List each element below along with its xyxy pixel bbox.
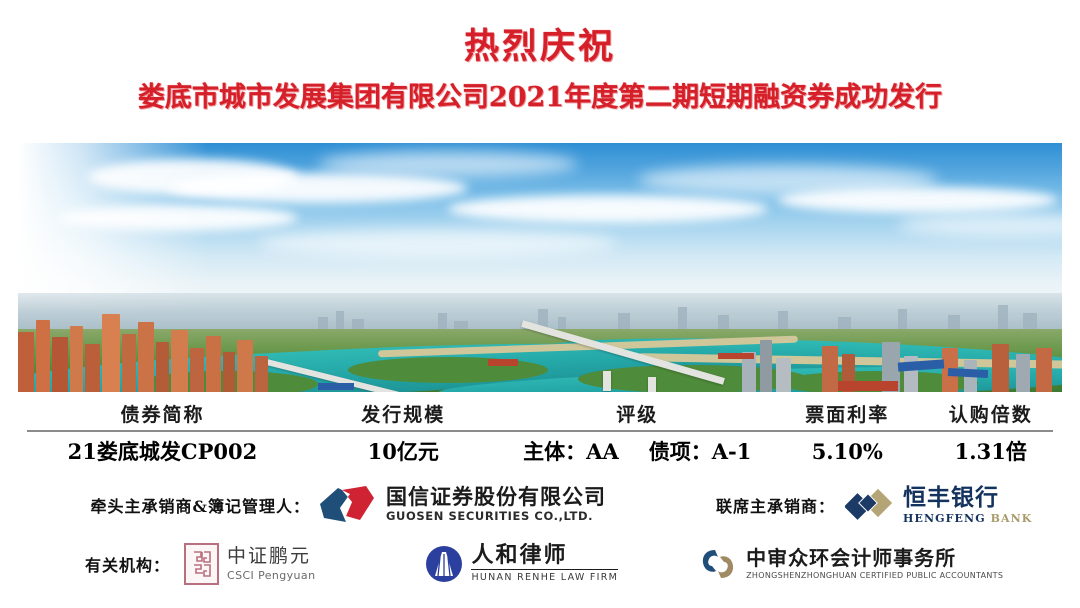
cell-rating-bond: 债项：A-1 (649, 436, 752, 466)
underwriters-row: 牵头主承销商&簿记管理人： 国信证券股份有限公司 GUOSEN SECURITI… (0, 478, 1080, 532)
column-header-bond-name: 债券简称 (18, 400, 307, 427)
cell-issue-size: 10亿元 (307, 436, 500, 466)
zhongshen-name-cn: 中审众环会计师事务所 (746, 548, 1003, 568)
joint-underwriter-label-wrap: 联席主承销商： (716, 493, 835, 517)
related-institutions-row: 有关机构： 中证鹏元 CSCI Pengyuan (0, 536, 1080, 592)
hengfeng-name-en-1: HENGFENG (903, 512, 986, 525)
cell-bond-name: 21娄底城发CP002 (18, 436, 307, 466)
lead-underwriter-label: 牵头主承销商&簿记管理人： (91, 497, 310, 516)
hengfeng-bank-logo-group: 恒丰银行 HENGFENG BANK (845, 484, 1032, 526)
zhongshen-zhonghuan-logo-icon (698, 546, 738, 582)
guosen-name-cn: 国信证券股份有限公司 (386, 487, 606, 508)
zhongshen-zhonghuan-logo-group: 中审众环会计师事务所 ZHONGSHENZHONGHUAN CERTIFIED … (698, 546, 1003, 582)
joint-underwriter-label: 联席主承销商： (716, 497, 835, 516)
guosen-securities-logo-group: 国信证券股份有限公司 GUOSEN SECURITIES CO.,LTD. (316, 484, 606, 526)
renhe-law-logo-icon (425, 545, 463, 583)
left-residential-towers (18, 303, 318, 392)
related-institutions-label: 有关机构： (85, 556, 170, 575)
city-panorama-photo (18, 143, 1062, 392)
bridge-pier (603, 371, 611, 391)
red-roof-building (838, 381, 898, 391)
cloud-shape (258, 229, 618, 257)
column-header-subscription: 认购倍数 (919, 400, 1062, 427)
column-header-coupon-rate: 票面利率 (775, 400, 919, 427)
cell-rating-issuer: 主体：AA (523, 436, 619, 466)
red-roof-building (488, 359, 518, 366)
hengfeng-name-en: HENGFENG BANK (903, 513, 1032, 524)
red-roof-building (718, 353, 754, 359)
guosen-logo-icon (316, 484, 378, 526)
table-row: 21娄底城发CP002 10亿元 主体：AA 债项：A-1 5.10% 1.31… (18, 432, 1062, 470)
renhe-law-logo-group: 人和律师 HUNAN RENHE LAW FIRM (425, 545, 618, 583)
cell-coupon-rate: 5.10% (775, 439, 919, 464)
sky-haze (18, 143, 208, 315)
csci-pengyuan-logo-group: 中证鹏元 CSCI Pengyuan (184, 543, 315, 585)
column-header-issue-size: 发行规模 (307, 400, 500, 427)
csci-name-cn: 中证鹏元 (227, 547, 315, 566)
renhe-name-en: HUNAN RENHE LAW FIRM (471, 573, 618, 583)
column-header-rating: 评级 (500, 400, 775, 427)
headline-block: 热烈庆祝 娄底市城市发展集团有限公司2021年度第二期短期融资券成功发行 (0, 0, 1080, 112)
table-header-row: 债券简称 发行规模 评级 票面利率 认购倍数 (18, 396, 1062, 430)
hengfeng-name-en-2: BANK (991, 512, 1033, 525)
blue-roof-building (318, 383, 354, 390)
page-subtitle-issuance: 娄底市城市发展集团有限公司2021年度第二期短期融资券成功发行 (0, 83, 1080, 113)
zhongshen-name-en: ZHONGSHENZHONGHUAN CERTIFIED PUBLIC ACCO… (746, 572, 1003, 580)
lead-underwriter-label-wrap: 牵头主承销商&簿记管理人： (0, 493, 310, 517)
hengfeng-name-cn: 恒丰银行 (903, 487, 1032, 510)
bond-summary-table: 债券简称 发行规模 评级 票面利率 认购倍数 21娄底城发CP002 10亿元 … (0, 396, 1080, 470)
cloud-shape (168, 173, 468, 203)
csci-name-en: CSCI Pengyuan (227, 570, 315, 581)
page-title-celebration: 热烈庆祝 (0, 28, 1080, 67)
bridge-pier (648, 377, 656, 392)
hengfeng-logo-icon (845, 484, 895, 526)
cell-rating: 主体：AA 债项：A-1 (500, 436, 775, 466)
right-residential-towers (732, 301, 1062, 392)
guosen-name-en: GUOSEN SECURITIES CO.,LTD. (386, 511, 606, 523)
renhe-name-cn: 人和律师 (471, 545, 618, 570)
cloud-shape (448, 195, 768, 223)
csci-pengyuan-seal-icon (184, 543, 219, 585)
cell-subscription-multiple: 1.31倍 (919, 436, 1062, 466)
greenery (348, 357, 548, 383)
related-institutions-label-wrap: 有关机构： (0, 552, 170, 576)
cloud-shape (778, 187, 1058, 213)
cloud-shape (318, 151, 578, 177)
